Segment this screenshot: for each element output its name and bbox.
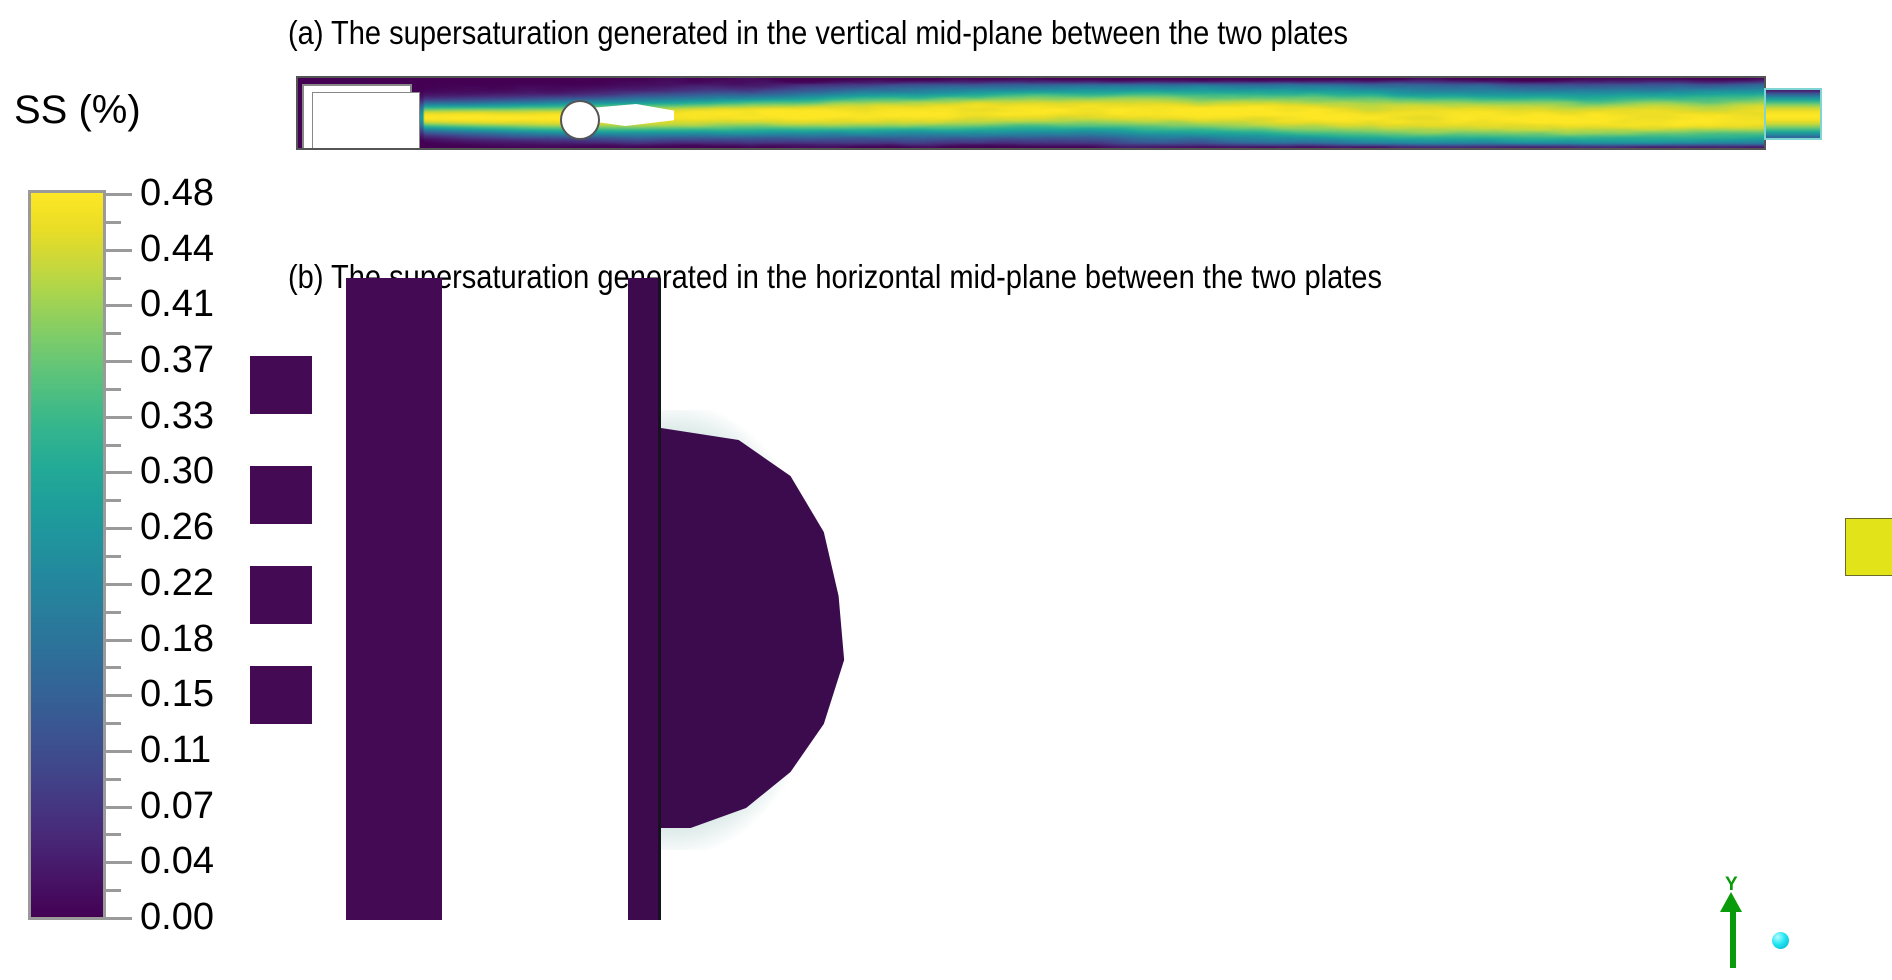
colorbar-tick-major [106, 917, 132, 920]
panel-a-outlet-field [1766, 90, 1820, 138]
colorbar-tick-major [106, 360, 132, 363]
colorbar-tick-label: 0.15 [140, 675, 214, 713]
colorbar-tick-major [106, 249, 132, 252]
panel-b-divider-plate [628, 278, 658, 920]
colorbar-tick-major [106, 527, 132, 530]
colorbar-tick-label: 0.33 [140, 397, 214, 435]
colorbar-tick-minor [106, 889, 121, 892]
panel-b-divider-edge [658, 278, 661, 920]
colorbar-tick-minor [106, 444, 121, 447]
panel-a-outlet-section [1764, 88, 1822, 140]
panel-b-nozzle [1536, 278, 1854, 920]
panel-b-chamber [298, 278, 1538, 920]
colorbar-tick-label: 0.30 [140, 452, 214, 490]
colorbar-tick-minor [106, 778, 121, 781]
colorbar-tick-major [106, 639, 132, 642]
panel-b-field [298, 278, 1538, 920]
colorbar-tick-minor [106, 833, 121, 836]
colorbar-tick-label: 0.22 [140, 564, 214, 602]
colorbar-tick-major [106, 806, 132, 809]
colorbar-tick-label: 0.04 [140, 842, 214, 880]
panel-a-field [298, 78, 1764, 148]
panel-a-inlet-box-inner [312, 92, 420, 150]
colorbar-tick-major [106, 416, 132, 419]
axis-indicator: Y [1716, 884, 1816, 980]
colorbar-tick-minor [106, 277, 121, 280]
colorbar-tick-label: 0.41 [140, 285, 214, 323]
colorbar-tick-label: 0.18 [140, 620, 214, 658]
colorbar-tick-minor [106, 388, 121, 391]
colorbar-gradient [28, 190, 106, 920]
colorbar-tick-label: 0.37 [140, 341, 214, 379]
colorbar-tick-minor [106, 666, 121, 669]
panel-a-channel [296, 76, 1766, 150]
colorbar-tick-minor [106, 611, 121, 614]
panel-b-horizontal-midplane [250, 278, 1892, 920]
colorbar-tick-label: 0.11 [140, 731, 211, 769]
colorbar-tick-major [106, 583, 132, 586]
colorbar-tick-minor [106, 555, 121, 558]
colorbar-tick-minor [106, 332, 121, 335]
colorbar-tick-major [106, 694, 132, 697]
colorbar-tick-label: 0.07 [140, 787, 214, 825]
axis-z-sphere-icon [1772, 932, 1789, 949]
colorbar-tick-minor [106, 722, 121, 725]
panel-a-title: (a) The supersaturation generated in the… [288, 14, 1348, 52]
colorbar-tick-major [106, 750, 132, 753]
panel-b-outlet-duct [1845, 518, 1892, 576]
colorbar-tick-label: 0.00 [140, 898, 214, 936]
colorbar-tick-minor [106, 221, 121, 224]
colorbar-tick-major [106, 861, 132, 864]
panel-a-vertical-midplane [296, 76, 1826, 182]
colorbar-tick-label: 0.26 [140, 508, 214, 546]
colorbar-tick-label: 0.44 [140, 230, 214, 268]
panel-a-obstacle-circle [560, 100, 600, 140]
panel-b-fin-bank [346, 278, 442, 920]
axis-arrow-shaft-icon [1730, 906, 1736, 968]
colorbar-scale: 0.480.440.410.370.330.300.260.220.180.15… [28, 190, 163, 920]
colorbar-tick-major [106, 304, 132, 307]
colorbar-tick-major [106, 193, 132, 196]
colorbar-title: SS (%) [14, 88, 141, 133]
colorbar-tick-major [106, 471, 132, 474]
colorbar-tick-label: 0.48 [140, 174, 214, 212]
colorbar-tick-minor [106, 499, 121, 502]
